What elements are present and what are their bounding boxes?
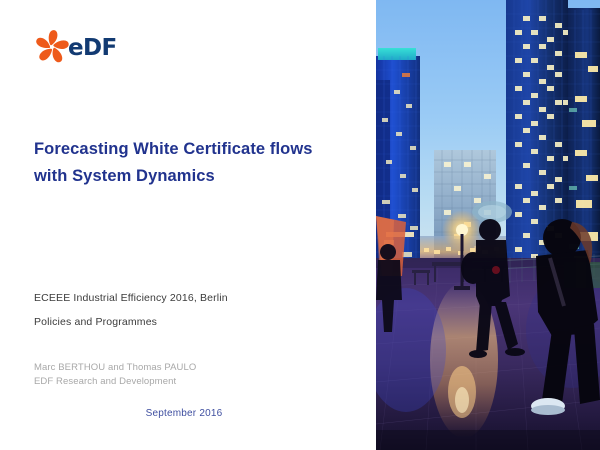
author-block: Marc BERTHOU and Thomas PAULO EDF Resear… bbox=[34, 361, 364, 389]
author-names: Marc BERTHOU and Thomas PAULO bbox=[34, 361, 364, 375]
event-subtitle: ECEEE Industrial Efficiency 2016, Berlin… bbox=[34, 286, 364, 334]
cover-photograph bbox=[376, 0, 600, 450]
slide-title-line-2: with System Dynamics bbox=[34, 163, 364, 190]
event-name: ECEEE Industrial Efficiency 2016, Berlin bbox=[34, 286, 364, 310]
edf-logo[interactable]: eDF bbox=[33, 27, 143, 67]
slide-title: Forecasting White Certificate flows with… bbox=[34, 136, 364, 190]
author-affiliation: EDF Research and Development bbox=[34, 375, 364, 389]
edf-pinwheel-sun-icon bbox=[33, 28, 71, 66]
event-track: Policies and Programmes bbox=[34, 310, 364, 334]
title-slide: eDF Forecasting White Certificate flows … bbox=[0, 0, 600, 450]
slide-title-line-1: Forecasting White Certificate flows bbox=[34, 136, 364, 163]
content-panel: eDF Forecasting White Certificate flows … bbox=[0, 0, 376, 450]
edf-wordmark: eDF bbox=[68, 37, 117, 60]
presentation-date: September 2016 bbox=[34, 408, 334, 419]
